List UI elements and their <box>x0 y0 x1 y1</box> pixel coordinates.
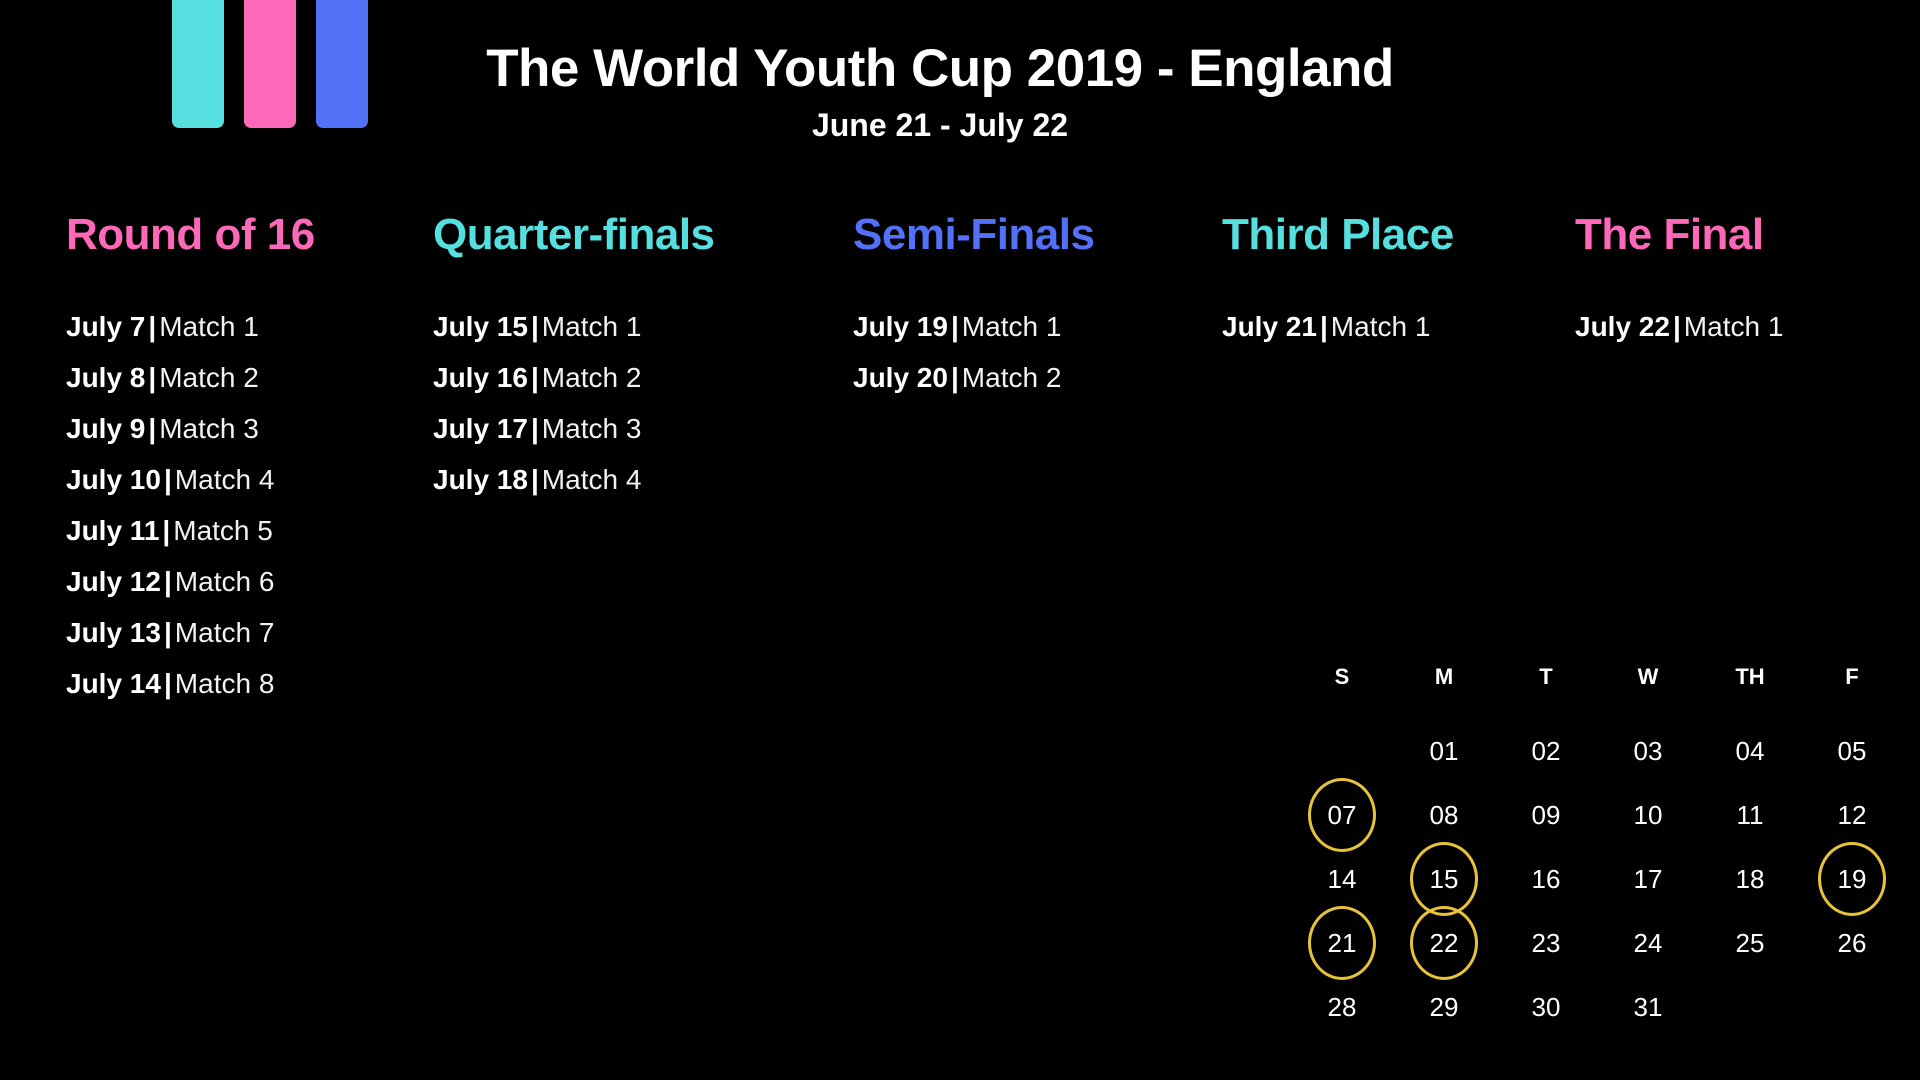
round-column: The FinalJuly 22|Match 1 <box>1575 213 1783 352</box>
calendar-day-header: S <box>1912 655 1920 699</box>
match-row[interactable]: July 8|Match 2 <box>66 352 315 403</box>
match-row[interactable]: July 9|Match 3 <box>66 403 315 454</box>
calendar-cell-empty <box>1912 975 1920 1039</box>
match-separator: | <box>145 362 159 393</box>
calendar-day-cell[interactable]: 10 <box>1606 783 1690 847</box>
calendar-day-cell[interactable]: 14 <box>1300 847 1384 911</box>
match-row[interactable]: July 16|Match 2 <box>433 352 715 403</box>
match-separator: | <box>1670 311 1684 342</box>
match-date: July 11 <box>66 515 159 546</box>
match-date: July 19 <box>853 311 948 342</box>
match-separator: | <box>161 668 175 699</box>
match-label: Match 1 <box>962 311 1062 342</box>
match-label: Match 4 <box>542 464 642 495</box>
calendar-day-header: M <box>1402 655 1486 699</box>
calendar-day-cell[interactable]: 08 <box>1402 783 1486 847</box>
match-separator: | <box>145 413 159 444</box>
match-row[interactable]: July 19|Match 1 <box>853 301 1094 352</box>
calendar-day-cell[interactable]: 03 <box>1606 719 1690 783</box>
calendar-day-cell[interactable]: 05 <box>1810 719 1894 783</box>
calendar-day-header: TH <box>1708 655 1792 699</box>
match-date: July 18 <box>433 464 528 495</box>
match-label: Match 8 <box>175 668 275 699</box>
match-date: July 21 <box>1222 311 1317 342</box>
match-label: Match 1 <box>159 311 259 342</box>
match-label: Match 1 <box>1331 311 1431 342</box>
match-separator: | <box>161 566 175 597</box>
match-date: July 10 <box>66 464 161 495</box>
match-date: July 16 <box>433 362 528 393</box>
match-separator: | <box>528 311 542 342</box>
match-list: July 7|Match 1July 8|Match 2July 9|Match… <box>66 301 315 709</box>
calendar-day-cell[interactable]: 06 <box>1912 719 1920 783</box>
calendar-day-cell[interactable]: 26 <box>1810 911 1894 975</box>
match-list: July 22|Match 1 <box>1575 301 1783 352</box>
match-label: Match 2 <box>542 362 642 393</box>
match-label: Match 6 <box>175 566 275 597</box>
match-separator: | <box>161 464 175 495</box>
match-row[interactable]: July 15|Match 1 <box>433 301 715 352</box>
calendar-day-cell[interactable]: 21 <box>1300 911 1384 975</box>
round-column: Quarter-finalsJuly 15|Match 1July 16|Mat… <box>433 213 715 505</box>
calendar-cell-empty <box>1810 975 1894 1039</box>
match-date: July 9 <box>66 413 145 444</box>
round-title: Third Place <box>1222 213 1454 257</box>
match-row[interactable]: July 13|Match 7 <box>66 607 315 658</box>
match-separator: | <box>161 617 175 648</box>
match-row[interactable]: July 22|Match 1 <box>1575 301 1783 352</box>
match-list: July 19|Match 1July 20|Match 2 <box>853 301 1094 403</box>
calendar-day-cell[interactable]: 15 <box>1402 847 1486 911</box>
match-date: July 7 <box>66 311 145 342</box>
match-separator: | <box>145 311 159 342</box>
match-date: July 13 <box>66 617 161 648</box>
match-date: July 8 <box>66 362 145 393</box>
match-label: Match 1 <box>542 311 642 342</box>
calendar-day-header: F <box>1810 655 1894 699</box>
match-row[interactable]: July 21|Match 1 <box>1222 301 1454 352</box>
match-list: July 21|Match 1 <box>1222 301 1454 352</box>
calendar-day-cell[interactable]: 16 <box>1504 847 1588 911</box>
match-row[interactable]: July 12|Match 6 <box>66 556 315 607</box>
calendar-day-cell[interactable]: 20 <box>1912 847 1920 911</box>
match-separator: | <box>528 464 542 495</box>
match-list: July 15|Match 1July 16|Match 2July 17|Ma… <box>433 301 715 505</box>
match-date: July 14 <box>66 668 161 699</box>
calendar-day-cell[interactable]: 19 <box>1810 847 1894 911</box>
calendar-cell-empty <box>1300 719 1384 783</box>
calendar-day-cell[interactable]: 11 <box>1708 783 1792 847</box>
calendar-day-cell[interactable]: 17 <box>1606 847 1690 911</box>
calendar-day-cell[interactable]: 12 <box>1810 783 1894 847</box>
calendar-day-cell[interactable]: 29 <box>1402 975 1486 1039</box>
match-date: July 17 <box>433 413 528 444</box>
match-row[interactable]: July 17|Match 3 <box>433 403 715 454</box>
calendar-day-header: S <box>1300 655 1384 699</box>
calendar-day-cell[interactable]: 04 <box>1708 719 1792 783</box>
match-row[interactable]: July 10|Match 4 <box>66 454 315 505</box>
calendar-day-header: T <box>1504 655 1588 699</box>
round-title: The Final <box>1575 213 1783 257</box>
round-column: Semi-FinalsJuly 19|Match 1July 20|Match … <box>853 213 1094 403</box>
match-label: Match 5 <box>173 515 273 546</box>
round-title: Round of 16 <box>66 213 315 257</box>
calendar-day-cell[interactable]: 23 <box>1504 911 1588 975</box>
calendar: SMTWTHFS 0102030405060708091011121314151… <box>1300 655 1920 1035</box>
calendar-day-headers: SMTWTHFS <box>1300 655 1920 719</box>
match-row[interactable]: July 11|Match 5 <box>66 505 315 556</box>
calendar-day-cell[interactable]: 22 <box>1402 911 1486 975</box>
match-separator: | <box>159 515 173 546</box>
match-row[interactable]: July 7|Match 1 <box>66 301 315 352</box>
calendar-day-cell[interactable]: 30 <box>1504 975 1588 1039</box>
match-date: July 12 <box>66 566 161 597</box>
match-label: Match 7 <box>175 617 275 648</box>
round-title: Quarter-finals <box>433 213 715 257</box>
match-label: Match 3 <box>542 413 642 444</box>
round-column: Third PlaceJuly 21|Match 1 <box>1222 213 1454 352</box>
calendar-day-cell[interactable]: 25 <box>1708 911 1792 975</box>
match-row[interactable]: July 18|Match 4 <box>433 454 715 505</box>
match-date: July 15 <box>433 311 528 342</box>
calendar-day-cell[interactable]: 01 <box>1402 719 1486 783</box>
calendar-day-cell[interactable]: 31 <box>1606 975 1690 1039</box>
calendar-day-cell[interactable]: 02 <box>1504 719 1588 783</box>
calendar-day-cell[interactable]: 24 <box>1606 911 1690 975</box>
match-label: Match 1 <box>1684 311 1784 342</box>
match-separator: | <box>948 362 962 393</box>
calendar-day-cell[interactable]: 09 <box>1504 783 1588 847</box>
calendar-day-cell[interactable]: 28 <box>1300 975 1384 1039</box>
match-date: July 20 <box>853 362 948 393</box>
calendar-cell-empty <box>1708 975 1792 1039</box>
match-separator: | <box>528 413 542 444</box>
match-row[interactable]: July 14|Match 8 <box>66 658 315 709</box>
match-label: Match 4 <box>175 464 275 495</box>
match-separator: | <box>948 311 962 342</box>
match-label: Match 2 <box>159 362 259 393</box>
match-date: July 22 <box>1575 311 1670 342</box>
calendar-day-cell[interactable]: 13 <box>1912 783 1920 847</box>
match-label: Match 3 <box>159 413 259 444</box>
round-title: Semi-Finals <box>853 213 1094 257</box>
round-column: Round of 16July 7|Match 1July 8|Match 2J… <box>66 213 315 709</box>
calendar-day-grid: 0102030405060708091011121314151617181920… <box>1300 719 1920 1039</box>
match-label: Match 2 <box>962 362 1062 393</box>
match-separator: | <box>528 362 542 393</box>
calendar-day-header: W <box>1606 655 1690 699</box>
calendar-day-cell[interactable]: 07 <box>1300 783 1384 847</box>
calendar-day-cell[interactable]: 27 <box>1912 911 1920 975</box>
match-row[interactable]: July 20|Match 2 <box>853 352 1094 403</box>
calendar-day-cell[interactable]: 18 <box>1708 847 1792 911</box>
match-separator: | <box>1317 311 1331 342</box>
